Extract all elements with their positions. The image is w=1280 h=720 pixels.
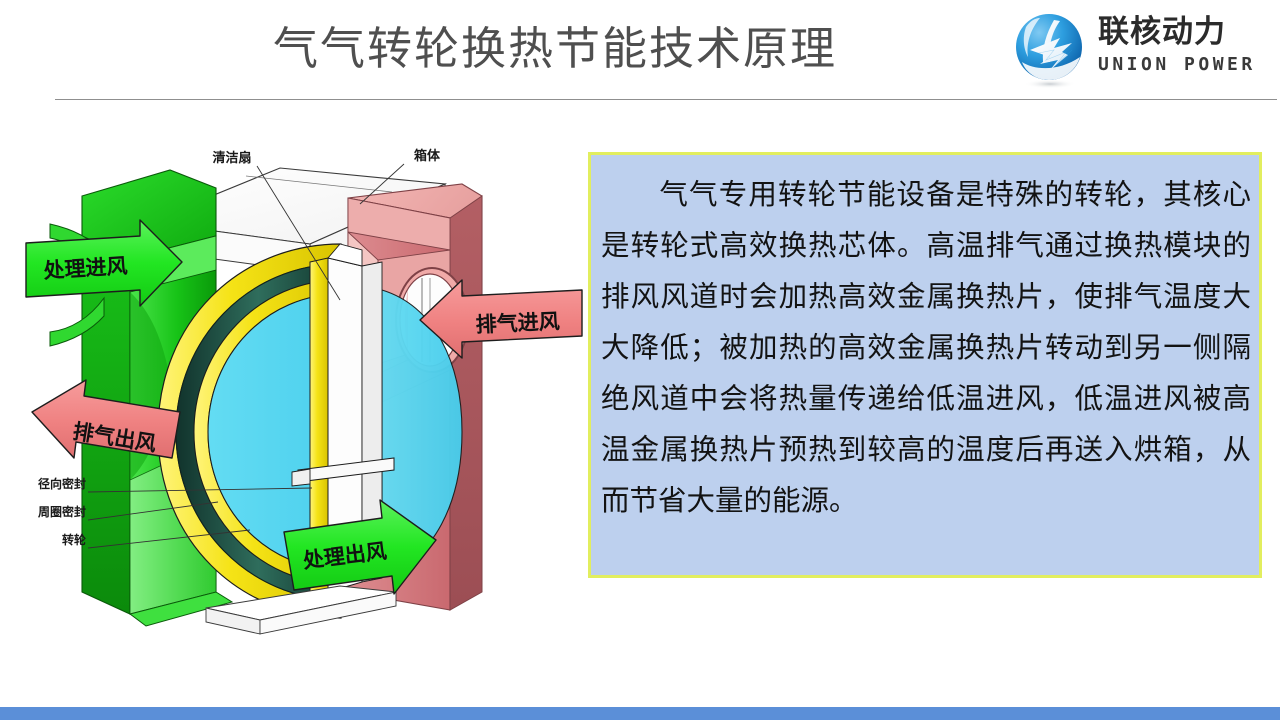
flow-arrow-exhaust-air-in-label: 排气进风 [475,309,560,337]
callout-clean-fan-label: 清洁扇 [212,150,251,166]
heat-exchanger-diagram: 清洁扇 箱体 径向密封 周圈密封 转轮 处理进风 排气进风 排气出风 [10,140,585,650]
logo-en-name: UNION POWER [1098,53,1272,77]
callout-box-body-label: 箱体 [414,148,441,164]
callout-rotor-wheel-label: 转轮 [62,532,87,547]
casing-base [206,586,396,634]
diagram-canvas: 清洁扇 箱体 径向密封 周圈密封 转轮 处理进风 排气进风 排气出风 [10,140,585,650]
description-panel: 气气专用转轮节能设备是特殊的转轮，其核心是转轮式高效换热芯体。高温排气通过换热模… [588,152,1262,578]
callout-circumferential-seal-label: 周圈密封 [38,504,86,519]
union-power-globe-icon [1010,10,1090,90]
description-text: 气气专用转轮节能设备是特殊的转轮，其核心是转轮式高效换热芯体。高温排气通过换热模… [591,155,1259,526]
company-logo: 联核动力 UNION POWER [1010,8,1272,94]
logo-wordmark: 联核动力 UNION POWER [1098,14,1272,88]
callout-radial-seal-label: 径向密封 [38,476,86,491]
slide-root: 气气转轮换热节能技术原理 [0,0,1280,720]
footer-accent-bar [0,707,1280,720]
header-divider [55,99,1277,100]
page-title: 气气转轮换热节能技术原理 [60,18,1050,80]
slide-header: 气气转轮换热节能技术原理 [0,0,1280,102]
logo-cn-name: 联核动力 [1098,14,1272,50]
